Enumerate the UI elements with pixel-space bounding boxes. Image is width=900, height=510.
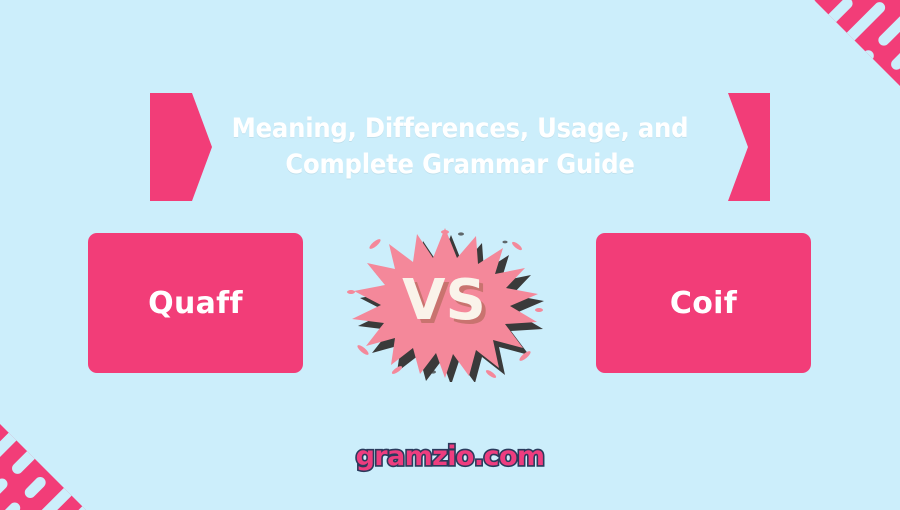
term-card-left[interactable]: Quaff: [88, 233, 303, 373]
page-title-line-1: Meaning, Differences, Usage, and: [232, 111, 689, 147]
vs-label: VS: [402, 268, 486, 333]
corner-dashed-diagonal-icon-bottom-left: [0, 362, 148, 510]
comic-starburst-icon: VS VS: [345, 222, 545, 382]
term-card-right-label: Coif: [670, 286, 737, 321]
site-logo[interactable]: gramzio.com: [0, 441, 900, 472]
site-logo-text: gramzio.com: [356, 441, 545, 472]
page-title-line-2: Complete Grammar Guide: [285, 147, 634, 183]
page-title: Meaning, Differences, Usage, and Complet…: [150, 93, 770, 201]
term-card-left-label: Quaff: [148, 286, 243, 321]
infographic-canvas: Meaning, Differences, Usage, and Complet…: [0, 0, 900, 510]
term-card-right[interactable]: Coif: [596, 233, 811, 373]
corner-dashed-diagonal-icon-top-right: [752, 0, 900, 148]
